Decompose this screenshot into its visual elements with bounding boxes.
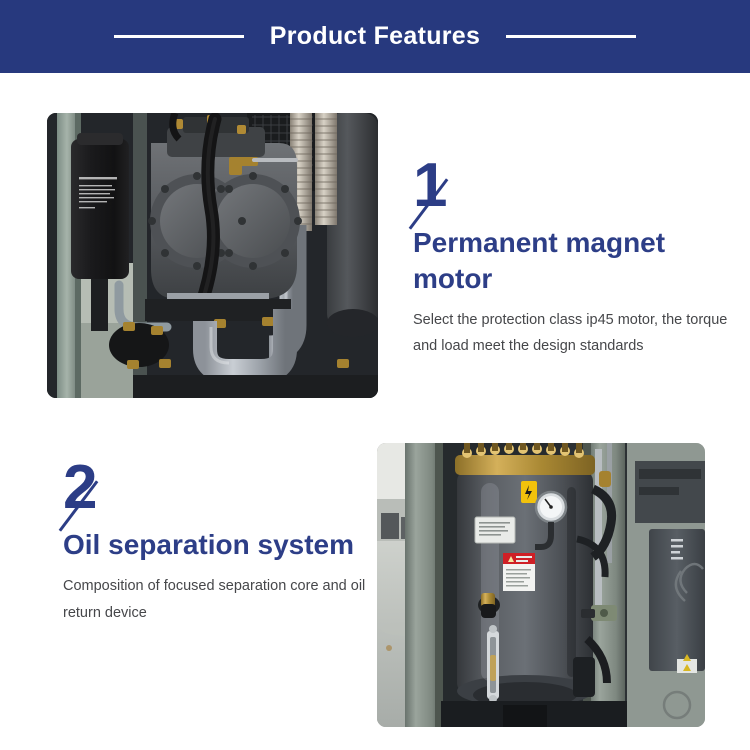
banner-rule-right [506, 35, 636, 38]
page-header-banner: Product Features [0, 0, 750, 73]
feature-2-description: Composition of focused separation core a… [63, 573, 383, 627]
feature-1-text-column: 1 Permanent magnet motor Select the prot… [413, 161, 733, 360]
banner-rule-left [114, 35, 244, 38]
feature-2-number-badge: 2 [63, 463, 153, 525]
compressor-air-end-photo-illustration [47, 113, 378, 398]
feature-2-text-column: 2 Oil separation system Composition of f… [63, 463, 383, 626]
feature-1-title: Permanent magnet motor [413, 225, 713, 297]
oil-separator-tank-photo-illustration [377, 443, 705, 727]
page-title: Product Features [244, 22, 506, 51]
feature-1-description: Select the protection class ip45 motor, … [413, 307, 733, 361]
feature-1-number-badge: 1 [413, 161, 503, 223]
feature-1-image [47, 113, 378, 398]
feature-block-1: 1 Permanent magnet motor Select the prot… [0, 73, 750, 428]
feature-block-2: 2 Oil separation system Composition of f… [0, 428, 750, 750]
feature-2-image [377, 443, 705, 727]
feature-2-title: Oil separation system [63, 527, 363, 563]
